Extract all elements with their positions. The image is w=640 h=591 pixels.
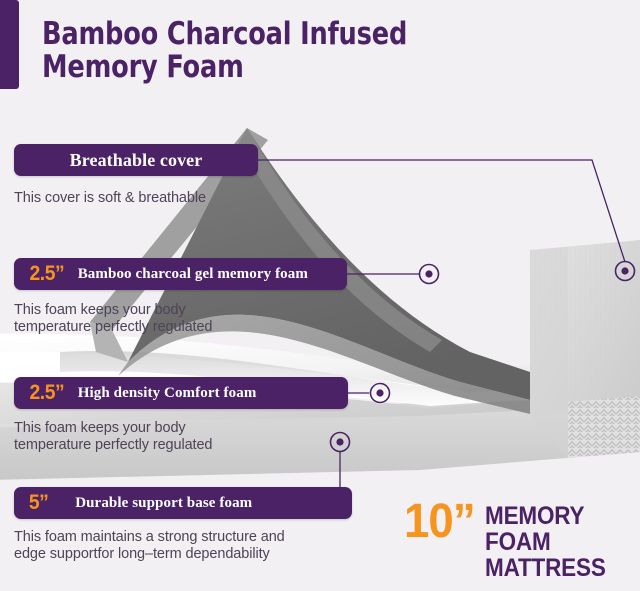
dot-cover [616,262,635,281]
callout-description-comfort: This foam keeps your body temperature pe… [14,420,314,454]
callout-thickness-comfort: 2.5” [30,381,65,405]
total-height-mark: 10” MEMORY FOAM MATTRESS [404,500,636,570]
total-height-number: 10” [404,500,475,544]
callout-dots [331,262,635,452]
connector-cover [258,160,625,262]
callout-label-comfort[interactable]: 2.5” High density Comfort foam [14,377,348,409]
dot-base [331,433,350,452]
callout-label-gel[interactable]: 2.5” Bamboo charcoal gel memory foam [14,258,347,290]
dot-comfort [371,384,390,403]
dot-gel [420,265,439,284]
callout-label-base-text: Durable support base foam [75,495,252,512]
callout-description-gel: This foam keeps your body temperature pe… [14,302,314,336]
callout-label-cover-text: Breathable cover [70,150,203,171]
total-height-label: MEMORY FOAM MATTRESS [485,500,621,581]
callout-label-comfort-text: High density Comfort foam [78,385,257,402]
callout-label-base[interactable]: 5” Durable support base foam [14,487,352,519]
callout-description-base: This foam maintains a strong structure a… [14,529,354,563]
callout-label-gel-text: Bamboo charcoal gel memory foam [78,266,308,283]
infographic-canvas: Bamboo Charcoal Infused Memory Foam Brea… [0,0,640,591]
callout-thickness-base: 5” [29,491,48,515]
callout-label-cover[interactable]: Breathable cover [14,144,258,176]
callout-thickness-gel: 2.5” [30,262,65,286]
callout-description-cover: This cover is soft & breathable [14,190,314,207]
